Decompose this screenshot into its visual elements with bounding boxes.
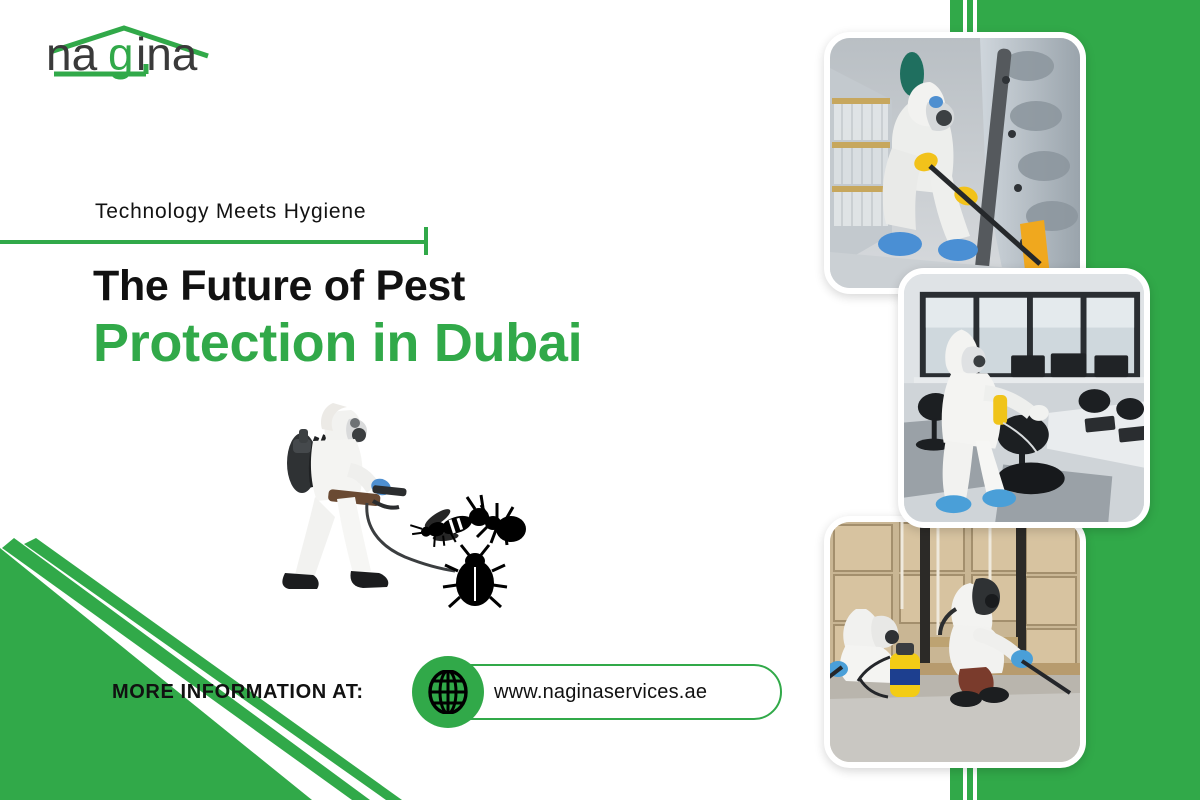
gallery-photo-warehouse-aisle-spraying <box>824 32 1086 294</box>
banner-canvas: na g ina Technology Meets Hygiene The Fu… <box>0 0 1200 800</box>
cta-label: MORE INFORMATION AT: <box>112 681 364 704</box>
hero-illustration <box>255 385 555 635</box>
headline-line-2: Protection in Dubai <box>93 312 582 374</box>
gallery-photo-office-disinfection <box>898 268 1150 528</box>
ant-icon <box>467 495 526 545</box>
gallery-photo-storage-room-treatment <box>824 516 1086 768</box>
svg-text:na: na <box>46 28 98 80</box>
globe-icon[interactable] <box>412 656 484 728</box>
svg-text:g: g <box>108 28 134 80</box>
eyebrow-rule-cap <box>424 227 428 255</box>
beetle-icon <box>443 545 507 607</box>
svg-text:ina: ina <box>136 28 198 80</box>
eyebrow-rule <box>0 240 428 244</box>
eyebrow-text: Technology Meets Hygiene <box>95 200 366 224</box>
insect-silhouettes <box>407 495 526 607</box>
wasp-icon <box>407 500 476 554</box>
brand-logo[interactable]: na g ina <box>28 22 228 84</box>
headline-line-1: The Future of Pest <box>93 262 465 311</box>
pest-control-worker-figure <box>282 403 455 589</box>
cta-url-text[interactable]: www.naginaservices.ae <box>494 681 707 704</box>
